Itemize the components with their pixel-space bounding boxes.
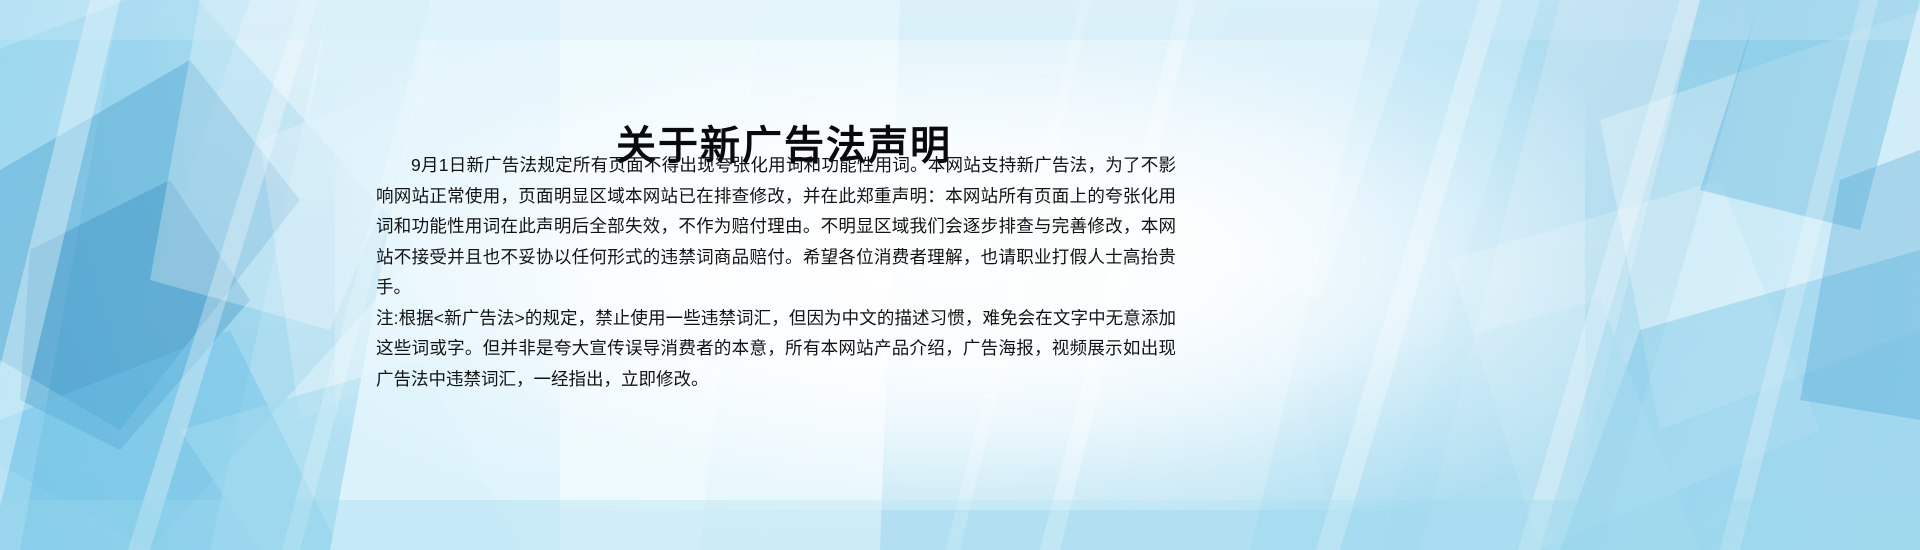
advertising-law-statement-banner: 关于新广告法声明 9月1日新广告法规定所有页面不得出现夸张化用词和功能性用词。本… (0, 0, 1920, 550)
statement-text-block: 9月1日新广告法规定所有页面不得出现夸张化用词和功能性用词。本网站支持新广告法，… (376, 150, 1176, 394)
statement-note-paragraph: 注:根据<新广告法>的规定，禁止使用一些违禁词汇，但因为中文的描述习惯，难免会在… (376, 303, 1176, 395)
statement-content: 关于新广告法声明 9月1日新广告法规定所有页面不得出现夸张化用词和功能性用词。本… (0, 0, 1920, 550)
statement-main-paragraph: 9月1日新广告法规定所有页面不得出现夸张化用词和功能性用词。本网站支持新广告法，… (376, 150, 1176, 303)
